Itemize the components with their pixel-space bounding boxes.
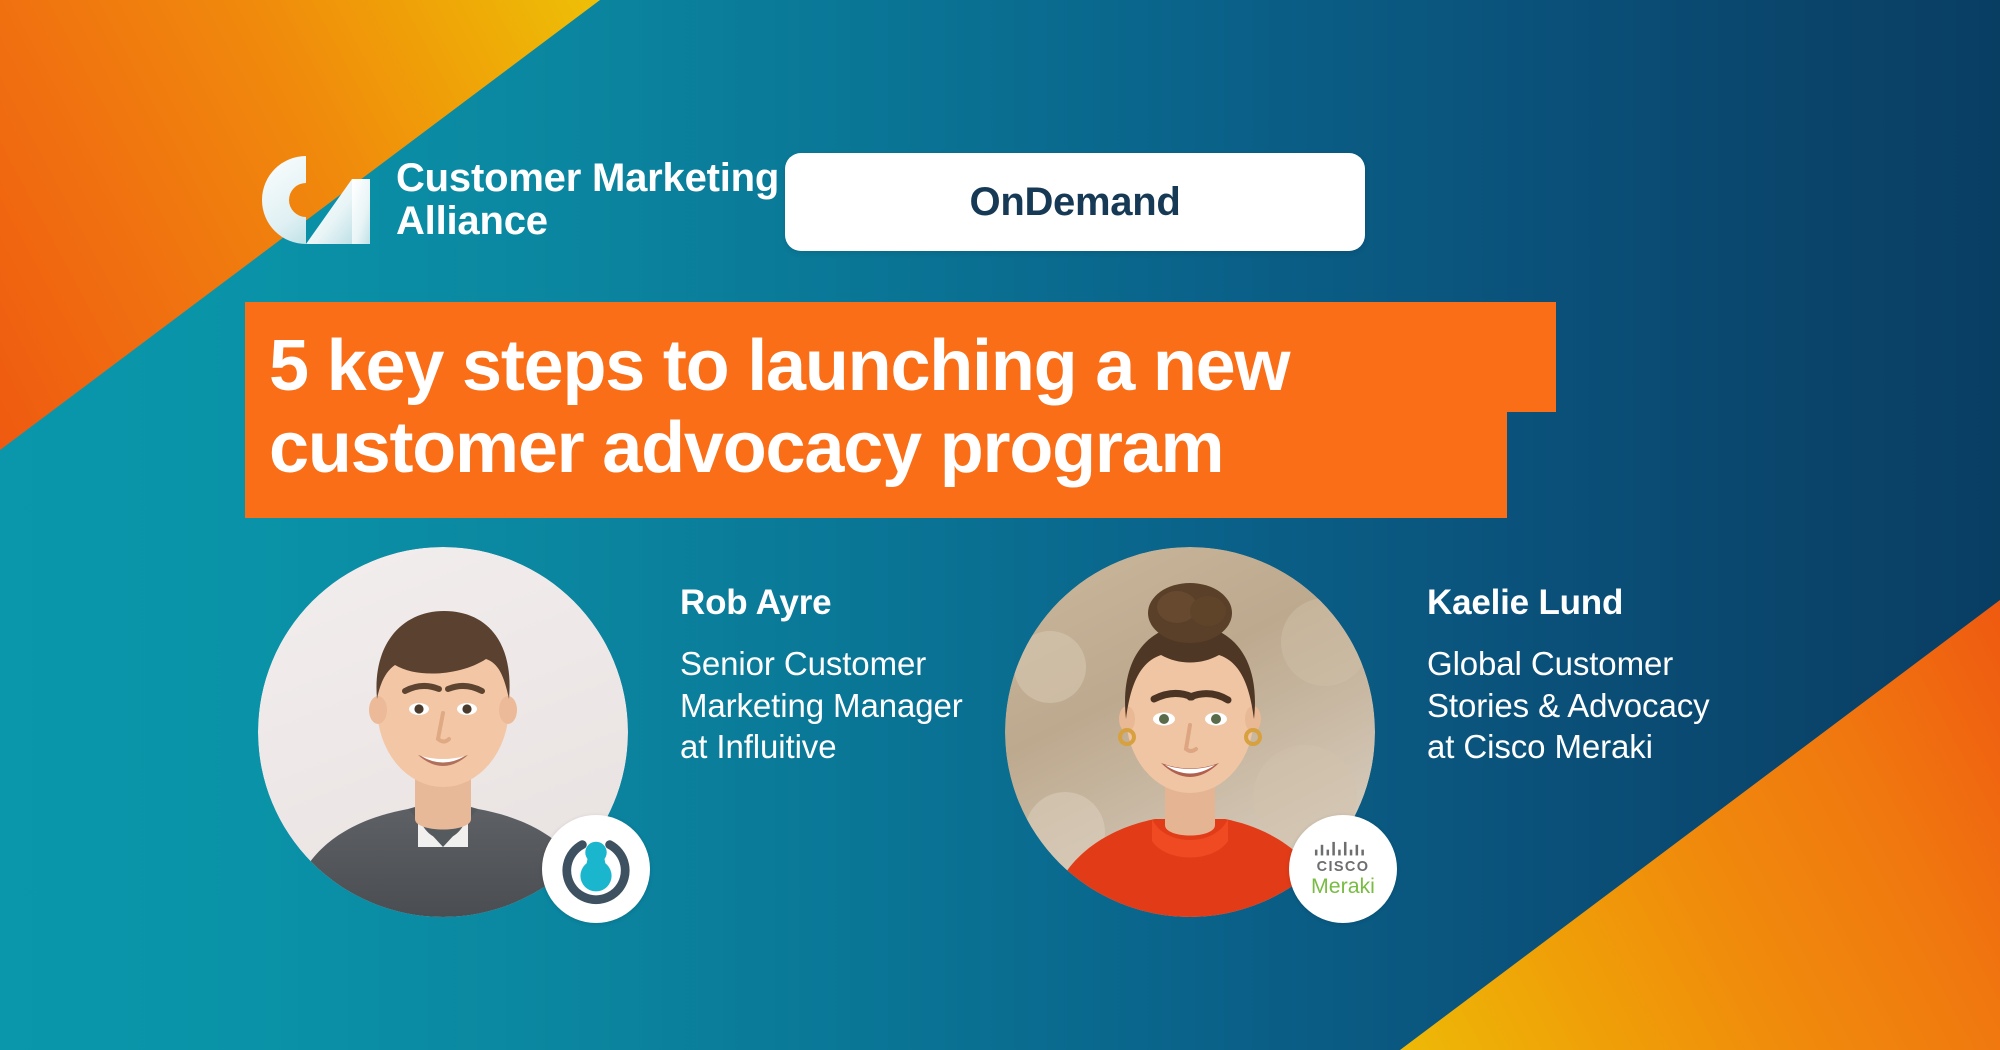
cisco-meraki-logo-icon: CISCO Meraki [1301,839,1385,899]
ondemand-badge-label: OnDemand [970,180,1181,225]
speaker-info: Rob Ayre Senior Customer Marketing Manag… [680,547,963,768]
webinar-promo-banner: Customer Marketing Alliance OnDemand 5 k… [0,0,2000,1050]
influitive-logo-icon [559,832,633,906]
speaker-info: Kaelie Lund Global Customer Stories & Ad… [1427,547,1710,768]
portrait-holder [258,547,628,917]
svg-text:Meraki: Meraki [1311,874,1375,898]
speaker-card-kaelie-lund: CISCO Meraki Kaelie Lund Global Customer… [1005,547,1710,917]
ondemand-badge[interactable]: OnDemand [785,153,1365,251]
cma-monogram-icon [258,152,370,248]
company-badge-influitive [542,815,650,923]
brand-lockup: Customer Marketing Alliance [258,152,779,248]
speaker-card-rob-ayre: Rob Ayre Senior Customer Marketing Manag… [258,547,963,917]
speaker-role: Senior Customer Marketing Manager at Inf… [680,643,963,768]
headline: 5 key steps to launching a new customer … [245,302,1556,518]
speaker-role: Global Customer Stories & Advocacy at Ci… [1427,643,1710,768]
headline-line-2: customer advocacy program [245,412,1507,518]
company-badge-cisco-meraki: CISCO Meraki [1289,815,1397,923]
speaker-name: Rob Ayre [680,583,963,623]
portrait-holder: CISCO Meraki [1005,547,1375,917]
svg-text:CISCO: CISCO [1317,859,1370,875]
headline-line-1: 5 key steps to launching a new [245,302,1556,412]
brand-name: Customer Marketing Alliance [396,157,779,243]
speaker-name: Kaelie Lund [1427,583,1710,623]
